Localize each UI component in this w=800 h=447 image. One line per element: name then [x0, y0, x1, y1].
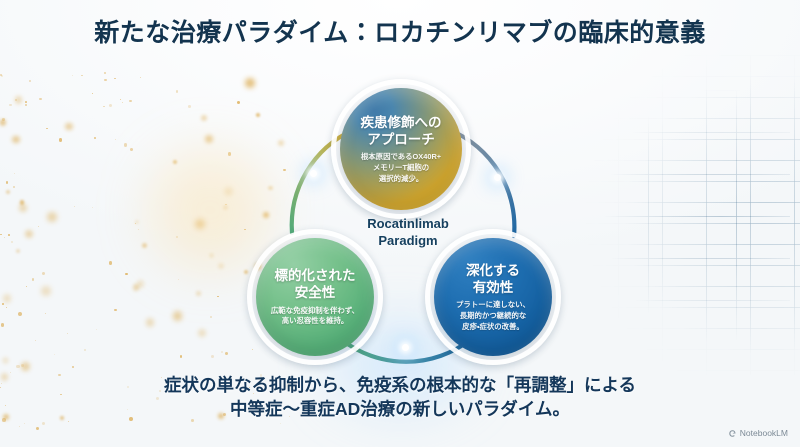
bokeh-dot [176, 236, 178, 238]
summary-caption: 症状の単なる抑制から、免疫系の根本的な「再調整」による 中等症〜重症AD治療の新… [0, 373, 800, 421]
bokeh-dot [6, 307, 7, 308]
bokeh-dot [223, 205, 228, 210]
bokeh-dot [104, 79, 107, 82]
bokeh-dot [133, 284, 140, 291]
bokeh-dot [135, 223, 137, 225]
bokeh-dot [92, 93, 93, 94]
bokeh-dot [15, 99, 17, 101]
bokeh-dot [41, 286, 51, 296]
bokeh-dot [32, 278, 34, 280]
bokeh-dot [109, 261, 112, 264]
bokeh-dot [46, 128, 48, 130]
grid-pattern-right-accent [560, 90, 790, 340]
bokeh-dot [24, 423, 25, 424]
node-deepening-efficacy[interactable]: 深化する 有効性 プラトーに達しない、 長期的かつ継続的な 皮疹・症状の改善。 [434, 238, 552, 356]
venn-triad-diagram: Rocatinlimab Paradigm 疾患修飾への アプローチ 根本原因で… [238, 78, 578, 368]
bokeh-dot [59, 138, 63, 142]
bokeh-dot [180, 355, 183, 358]
bokeh-dot [38, 226, 39, 227]
bokeh-dot [35, 340, 36, 341]
bokeh-dot [81, 75, 83, 77]
bokeh-dot [1, 75, 3, 77]
bokeh-dot [14, 173, 15, 174]
slide-canvas: 新たな治療パラダイム：ロカチンリマブの臨床的意義 [0, 0, 800, 447]
bokeh-dot [114, 78, 115, 79]
node-title-line1: 標的化された [275, 268, 356, 283]
bokeh-dot [228, 152, 231, 155]
bokeh-dot [129, 100, 132, 103]
bokeh-dot [138, 229, 139, 230]
bokeh-dot [6, 181, 9, 184]
bokeh-dot [137, 280, 145, 288]
bokeh-dot [173, 311, 183, 321]
bokeh-dot [25, 230, 33, 238]
bokeh-dot [135, 220, 139, 224]
bokeh-dot [120, 99, 121, 100]
node-description: 広範な免疫抑制を伴わず、 高い忍容性を維持。 [263, 306, 367, 327]
bokeh-dot [96, 329, 97, 330]
bokeh-dot [19, 204, 27, 212]
node-desc-line1: 根本原因であるOX40R+ [361, 152, 441, 161]
bokeh-dot [4, 237, 5, 238]
caption-line-2: 中等症〜重症AD治療の新しいパラダイム。 [0, 397, 800, 421]
bokeh-dot [205, 135, 213, 143]
bokeh-dot [47, 212, 57, 222]
node-desc-line3: 皮疹・症状の改善。 [462, 322, 524, 331]
bokeh-dot [0, 119, 6, 125]
node-title: 疾患修飾への アプローチ [361, 114, 442, 149]
bokeh-dot [21, 362, 30, 371]
node-title-line2: アプローチ [367, 132, 435, 147]
bokeh-dot [20, 200, 25, 205]
bokeh-dot [29, 80, 31, 82]
notebooklm-label: NotebookLM [740, 428, 788, 438]
bokeh-dot [130, 148, 133, 151]
node-desc-line2: 長期的かつ継続的な [460, 311, 527, 320]
center-label-line2: Paradigm [378, 233, 437, 248]
bokeh-dot [125, 273, 128, 276]
bokeh-dot [178, 279, 179, 280]
bokeh-dot [188, 105, 191, 108]
node-desc-line2: 高い忍容性を維持。 [282, 316, 349, 325]
bokeh-dot [1, 323, 4, 326]
bokeh-dot [218, 263, 224, 269]
node-desc-line1: プラトーに達しない、 [456, 300, 530, 309]
bokeh-dot [84, 349, 87, 352]
bokeh-dot [6, 190, 10, 194]
bokeh-dot [2, 357, 9, 364]
bokeh-dot [13, 186, 15, 188]
center-paradigm-label: Rocatinlimab Paradigm [333, 216, 483, 249]
bokeh-dot [104, 72, 106, 74]
bokeh-dot [280, 423, 281, 424]
bokeh-dot [225, 204, 227, 206]
node-disease-modification[interactable]: 疾患修飾への アプローチ 根本原因であるOX40R+ メモリーT細胞の 選択的減… [340, 88, 462, 210]
bokeh-dot [92, 207, 93, 208]
bokeh-dot [26, 286, 27, 287]
bokeh-dot [16, 365, 20, 369]
bokeh-dot [19, 426, 20, 427]
bokeh-dot [0, 74, 2, 76]
bokeh-dot [42, 272, 45, 275]
bokeh-dot [196, 291, 201, 296]
bokeh-dot [72, 366, 74, 368]
node-title-line1: 深化する [466, 263, 520, 278]
node-title: 深化する 有効性 [466, 262, 520, 297]
node-description: プラトーに達しない、 長期的かつ継続的な 皮疹・症状の改善。 [448, 300, 538, 332]
node-desc-line2: メモリーT細胞の [373, 163, 429, 172]
node-title-line2: 安全性 [295, 285, 336, 300]
bokeh-dot [115, 139, 116, 140]
bokeh-dot [16, 249, 20, 253]
bokeh-dot [67, 333, 69, 335]
bokeh-dot [103, 106, 104, 107]
bokeh-dot [11, 241, 12, 242]
bokeh-dot [94, 137, 96, 139]
bokeh-dot [65, 123, 73, 131]
bokeh-dot [74, 206, 75, 207]
bokeh-dot [198, 329, 206, 337]
node-title: 標的化された 安全性 [275, 267, 356, 302]
bokeh-dot [15, 96, 23, 104]
bokeh-dot [201, 115, 207, 121]
bokeh-dot [0, 234, 2, 236]
node-title-line2: 有効性 [473, 280, 514, 295]
bokeh-dot [210, 316, 213, 319]
bokeh-dot [221, 351, 223, 353]
bokeh-dot [114, 309, 117, 312]
bokeh-dot [109, 104, 113, 108]
notebooklm-watermark: NotebookLM [728, 428, 788, 438]
bokeh-dot [8, 234, 10, 236]
bokeh-dot [0, 120, 5, 125]
node-targeted-safety[interactable]: 標的化された 安全性 広範な免疫抑制を伴わず、 高い忍容性を維持。 [256, 238, 374, 356]
node-desc-line3: 選択的減少。 [379, 174, 423, 183]
connector-glow-bottom [402, 344, 409, 351]
bokeh-dot [39, 98, 41, 100]
bokeh-dot [146, 318, 155, 327]
bokeh-dot [9, 104, 12, 107]
bokeh-dot [176, 90, 179, 93]
bokeh-dot [209, 253, 214, 258]
page-title: 新たな治療パラダイム：ロカチンリマブの臨床的意義 [0, 18, 800, 48]
bokeh-dot [140, 77, 141, 78]
bokeh-dot [2, 303, 4, 305]
bokeh-dot [2, 118, 5, 121]
bokeh-dot [54, 354, 55, 355]
notebooklm-logo-icon [728, 429, 737, 438]
bokeh-dot [36, 427, 39, 430]
caption-line-1: 症状の単なる抑制から、免疫系の根本的な「再調整」による [0, 373, 800, 397]
bokeh-dot [211, 355, 214, 358]
node-title-line1: 疾患修飾への [361, 115, 442, 130]
bokeh-dot [225, 352, 228, 355]
bokeh-dot [142, 243, 146, 247]
connector-glow-top-left [310, 170, 317, 177]
bokeh-dot [173, 160, 177, 164]
node-description: 根本原因であるOX40R+ メモリーT細胞の 選択的減少。 [353, 152, 449, 184]
bokeh-dot [124, 143, 128, 147]
bokeh-dot [21, 364, 24, 367]
bokeh-dot [72, 75, 73, 76]
node-desc-line1: 広範な免疫抑制を伴わず、 [271, 306, 359, 315]
bokeh-dot [25, 101, 27, 103]
center-label-line1: Rocatinlimab [367, 216, 449, 231]
bokeh-dot [25, 104, 27, 106]
bokeh-dot [12, 136, 20, 144]
bokeh-dot [217, 296, 218, 297]
bokeh-dot [45, 313, 47, 315]
bokeh-dot [122, 102, 123, 103]
bokeh-dot [42, 422, 45, 425]
connector-glow-top-right [494, 174, 501, 181]
bokeh-dot [195, 219, 205, 229]
bokeh-dot [224, 187, 233, 196]
bokeh-dot [18, 312, 22, 316]
bokeh-dot [3, 294, 11, 302]
